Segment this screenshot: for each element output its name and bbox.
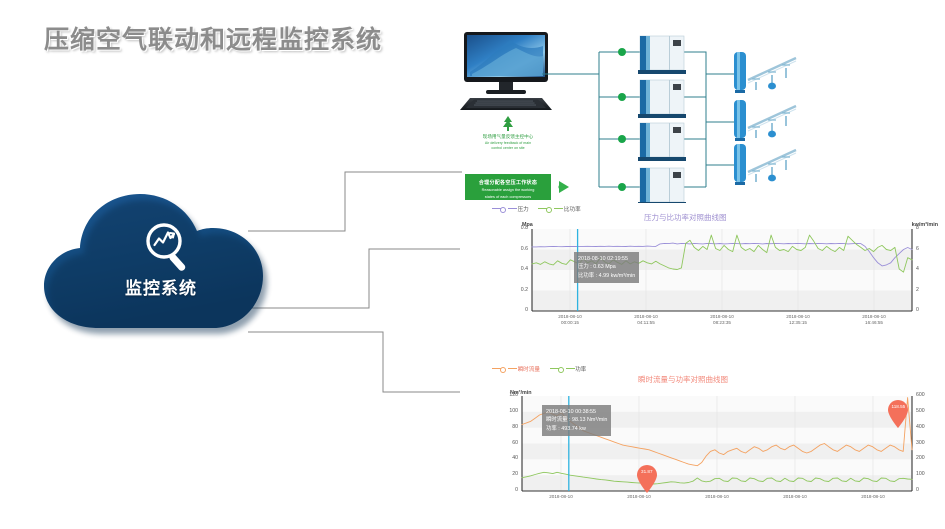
chart0-tooltip-time: 2018-08-10 02:19:55 [578, 255, 635, 263]
xtick: 2018-08-10 [845, 494, 901, 500]
xtick: 2018-08-1008:23:35 [694, 314, 750, 326]
ytick-right: 400 [916, 424, 925, 430]
ytick-right: 6 [916, 246, 919, 252]
ytick-left: 0.2 [460, 287, 528, 293]
ytick-right: 0 [916, 307, 919, 313]
xtick: 2018-08-1000:00:15 [542, 314, 598, 326]
chart0-tooltip-line2: 比功率 : 4.99 kw/m³/min [578, 272, 635, 280]
ytick-left: 0 [460, 487, 518, 493]
pressure-vs-specific-power-chart[interactable]: 压力 比功率 压力与比功率对照曲线图 Mpa kw/m³/min 2018-08… [460, 203, 940, 331]
xtick: 2018-08-10 [767, 494, 823, 500]
chart1-plot [460, 363, 940, 513]
ytick-left: 20 [460, 471, 518, 477]
ytick-right: 100 [916, 471, 925, 477]
ytick-right: 200 [916, 455, 925, 461]
ytick-left: 0.6 [460, 246, 528, 252]
chart-pin-marker[interactable]: 31.87 [635, 464, 659, 494]
chart0-tooltip-line1: 压力 : 0.63 Mpa [578, 263, 635, 271]
ytick-left: 40 [460, 455, 518, 461]
ytick-left: 80 [460, 424, 518, 430]
ytick-right: 300 [916, 440, 925, 446]
ytick-left: 0.4 [460, 266, 528, 272]
ytick-left: 100 [460, 408, 518, 414]
system-diagram: 现场用气量反馈主控中心 Air delivery feedback of mai… [444, 22, 942, 207]
chart0-tooltip: 2018-08-10 02:19:55 压力 : 0.63 Mpa 比功率 : … [574, 252, 639, 283]
page-title: 压缩空气联动和远程监控系统 [44, 20, 382, 56]
diagram-wiring [444, 22, 942, 207]
chart0-plot [460, 203, 940, 331]
xtick: 2018-08-1016:46:55 [846, 314, 902, 326]
ytick-right: 4 [916, 266, 919, 272]
ytick-left: 120 [460, 392, 518, 398]
ytick-right: 500 [916, 408, 925, 414]
xtick: 2018-08-1012:35:15 [770, 314, 826, 326]
chart1-tooltip-line2: 功率 : 493.74 kw [546, 425, 607, 433]
slide-canvas: 压缩空气联动和远程监控系统 [0, 0, 945, 529]
pin-label: 31.87 [635, 469, 659, 474]
ytick-right: 600 [916, 392, 925, 398]
xtick: 2018-08-1004:11:55 [618, 314, 674, 326]
xtick: 2018-08-10 [611, 494, 667, 500]
chart-pin-marker[interactable]: 118.55 [886, 399, 910, 429]
chart1-tooltip: 2018-08-10 00:38:55 瞬时流量 : 98.13 Nm³/min… [542, 405, 611, 436]
xtick: 2018-08-10 [689, 494, 745, 500]
chart1-tooltip-time: 2018-08-10 00:38:55 [546, 408, 607, 416]
ytick-left: 0.8 [460, 225, 528, 231]
chart1-tooltip-line1: 瞬时流量 : 98.13 Nm³/min [546, 416, 607, 424]
pin-label: 118.55 [886, 404, 910, 409]
ytick-left: 0 [460, 307, 528, 313]
flow-vs-power-chart[interactable]: 瞬时流量 功率 瞬时流量与功率对照曲线图 Nm³/min 2018-08-10 … [460, 363, 940, 513]
cloud-label: 监控系统 [36, 274, 286, 299]
chart-magnifier-icon [140, 220, 198, 272]
ytick-left: 60 [460, 440, 518, 446]
ytick-right: 2 [916, 287, 919, 293]
monitoring-cloud[interactable]: 监控系统 [36, 186, 286, 331]
xtick: 2018-08-10 [533, 494, 589, 500]
ytick-right: 0 [916, 487, 919, 493]
ytick-right: 8 [916, 225, 919, 231]
